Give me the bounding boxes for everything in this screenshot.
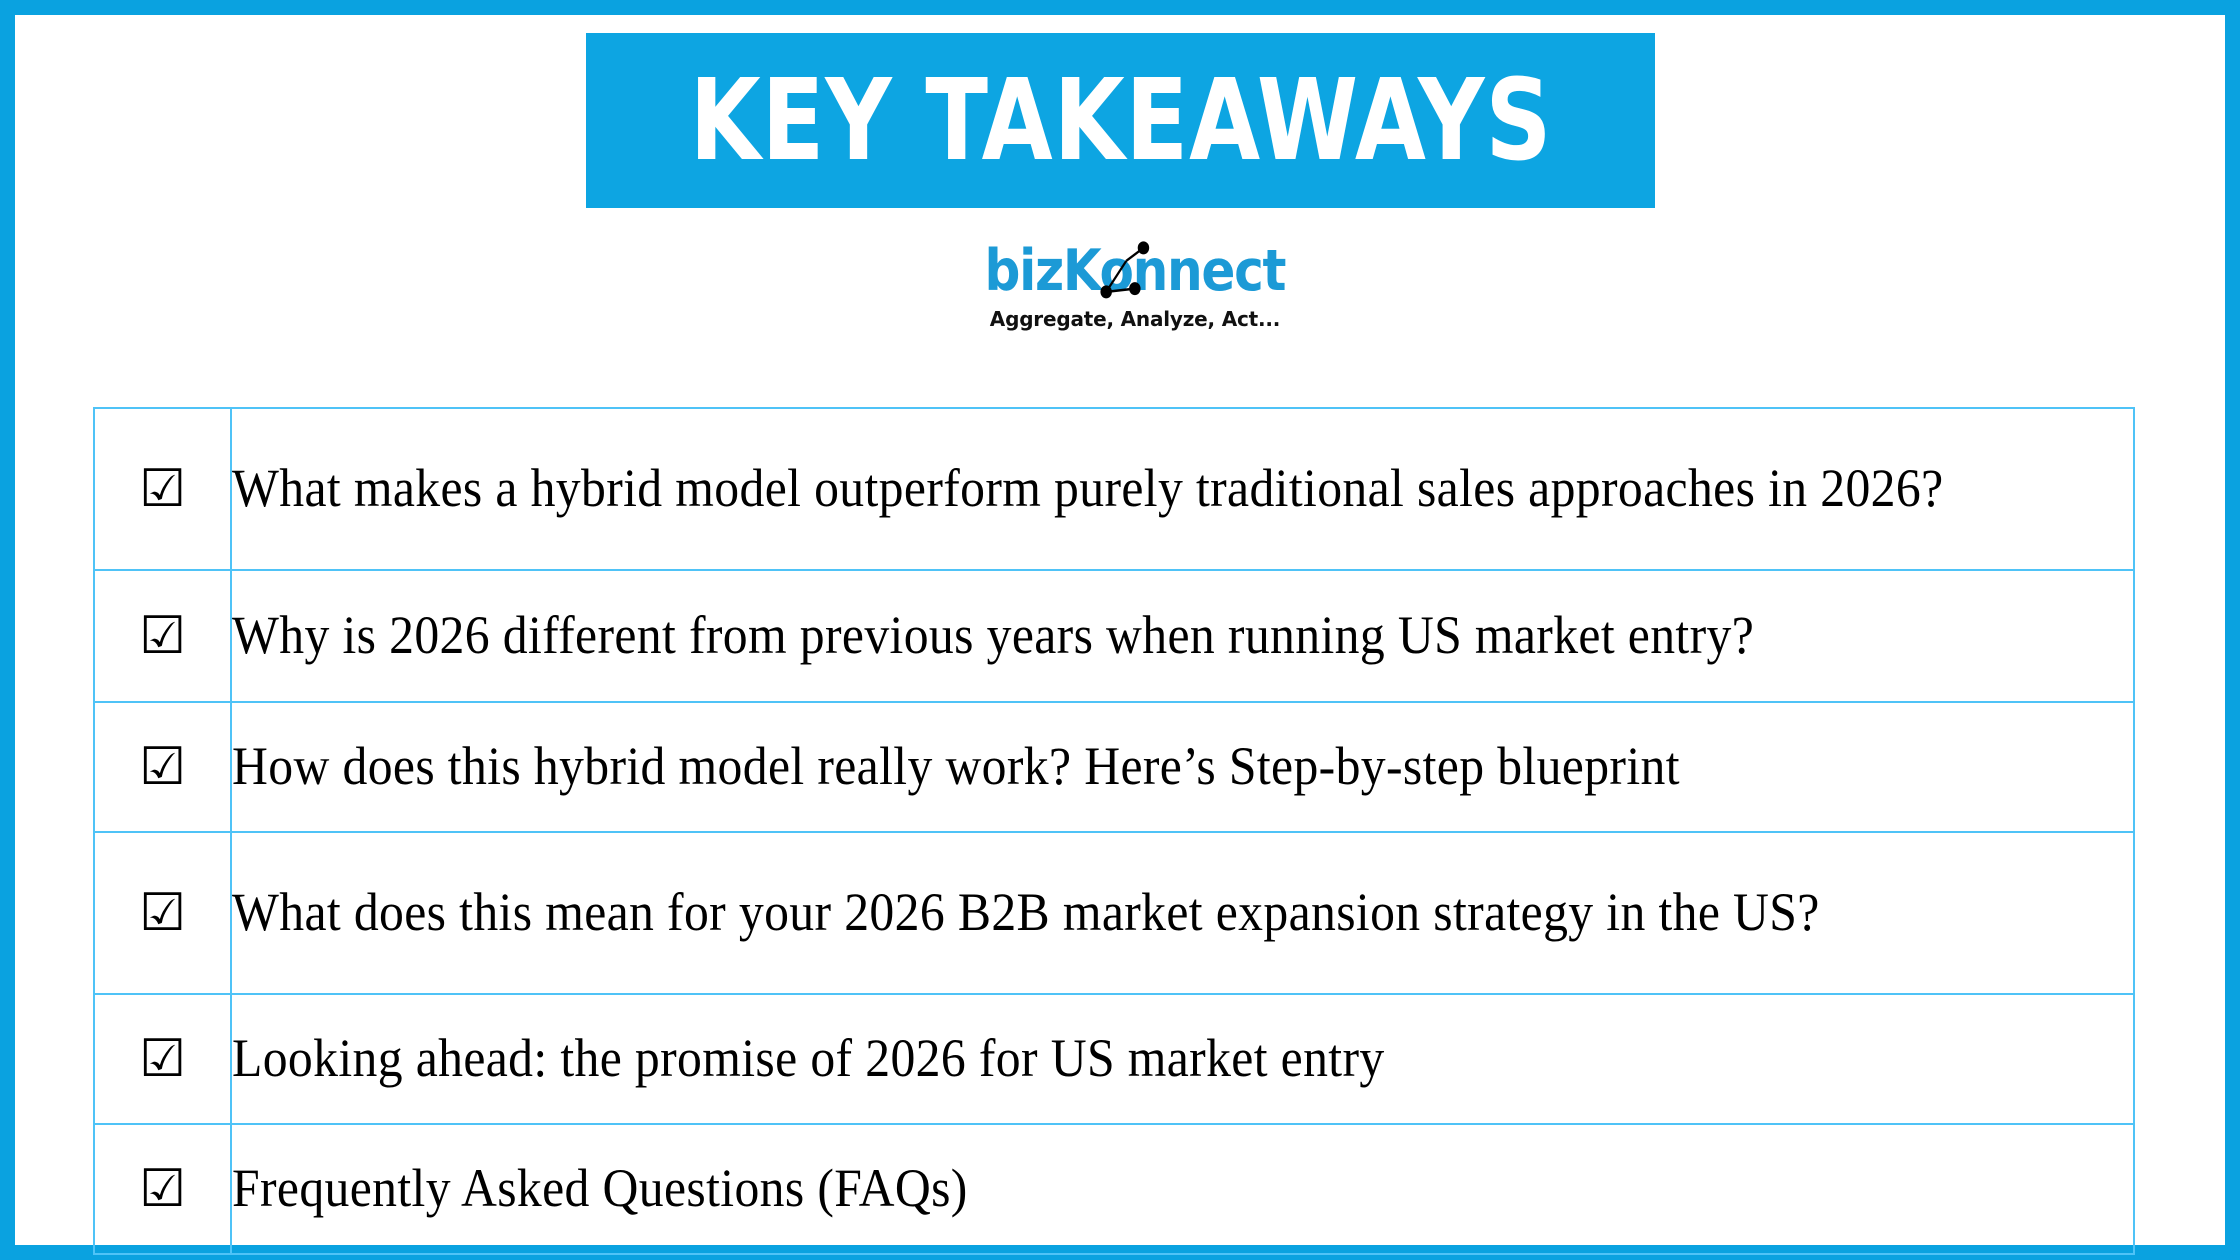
table-row[interactable]: ☑ What makes a hybrid model outperform p…: [94, 408, 2134, 570]
logo-tagline: Aggregate, Analyze, Act...: [990, 309, 1280, 329]
checkbox-cell[interactable]: ☑: [94, 1124, 231, 1254]
takeaway-label: Looking ahead: the promise of 2026 for U…: [232, 1028, 2133, 1090]
table-row[interactable]: ☑ How does this hybrid model really work…: [94, 702, 2134, 832]
checked-box-icon: ☑: [139, 1163, 186, 1215]
checkbox-cell[interactable]: ☑: [94, 408, 231, 570]
checked-box-icon: ☑: [139, 1033, 186, 1085]
takeaway-text-cell: What does this mean for your 2026 B2B ma…: [231, 832, 2134, 994]
takeaway-text-cell: Looking ahead: the promise of 2026 for U…: [231, 994, 2134, 1124]
takeaway-text-cell: What makes a hybrid model outperform pur…: [231, 408, 2134, 570]
takeaway-label: What does this mean for your 2026 B2B ma…: [232, 882, 2133, 944]
takeaway-label: How does this hybrid model really work? …: [232, 736, 2133, 798]
takeaway-text-cell: Why is 2026 different from previous year…: [231, 570, 2134, 702]
checkbox-cell[interactable]: ☑: [94, 994, 231, 1124]
page-title: KEY TAKEAWAYS: [689, 65, 1552, 177]
checked-box-icon: ☑: [139, 463, 186, 515]
checkbox-cell[interactable]: ☑: [94, 702, 231, 832]
takeaway-label: Frequently Asked Questions (FAQs): [232, 1158, 2133, 1220]
checked-box-icon: ☑: [139, 741, 186, 793]
takeaway-label: What makes a hybrid model outperform pur…: [232, 458, 2133, 520]
takeaway-label: Why is 2026 different from previous year…: [232, 605, 2133, 667]
takeaways-table: ☑ What makes a hybrid model outperform p…: [93, 407, 2135, 1255]
checked-box-icon: ☑: [139, 610, 186, 662]
slide-canvas: KEY TAKEAWAYS bizKonnect Aggregate, Anal…: [0, 0, 2240, 1260]
table-row[interactable]: ☑ Frequently Asked Questions (FAQs): [94, 1124, 2134, 1254]
header-banner: KEY TAKEAWAYS: [586, 33, 1655, 208]
takeaway-text-cell: Frequently Asked Questions (FAQs): [231, 1124, 2134, 1254]
table-row[interactable]: ☑ What does this mean for your 2026 B2B …: [94, 832, 2134, 994]
brand-logo: bizKonnect Aggregate, Analyze, Act...: [15, 243, 2240, 363]
checkbox-cell[interactable]: ☑: [94, 832, 231, 994]
logo-wordmark-text: bizKonnect: [985, 238, 1286, 304]
checked-box-icon: ☑: [139, 887, 186, 939]
table-row[interactable]: ☑ Why is 2026 different from previous ye…: [94, 570, 2134, 702]
logo-wordmark: bizKonnect: [985, 243, 1286, 300]
checkbox-cell[interactable]: ☑: [94, 570, 231, 702]
table-row[interactable]: ☑ Looking ahead: the promise of 2026 for…: [94, 994, 2134, 1124]
takeaway-text-cell: How does this hybrid model really work? …: [231, 702, 2134, 832]
